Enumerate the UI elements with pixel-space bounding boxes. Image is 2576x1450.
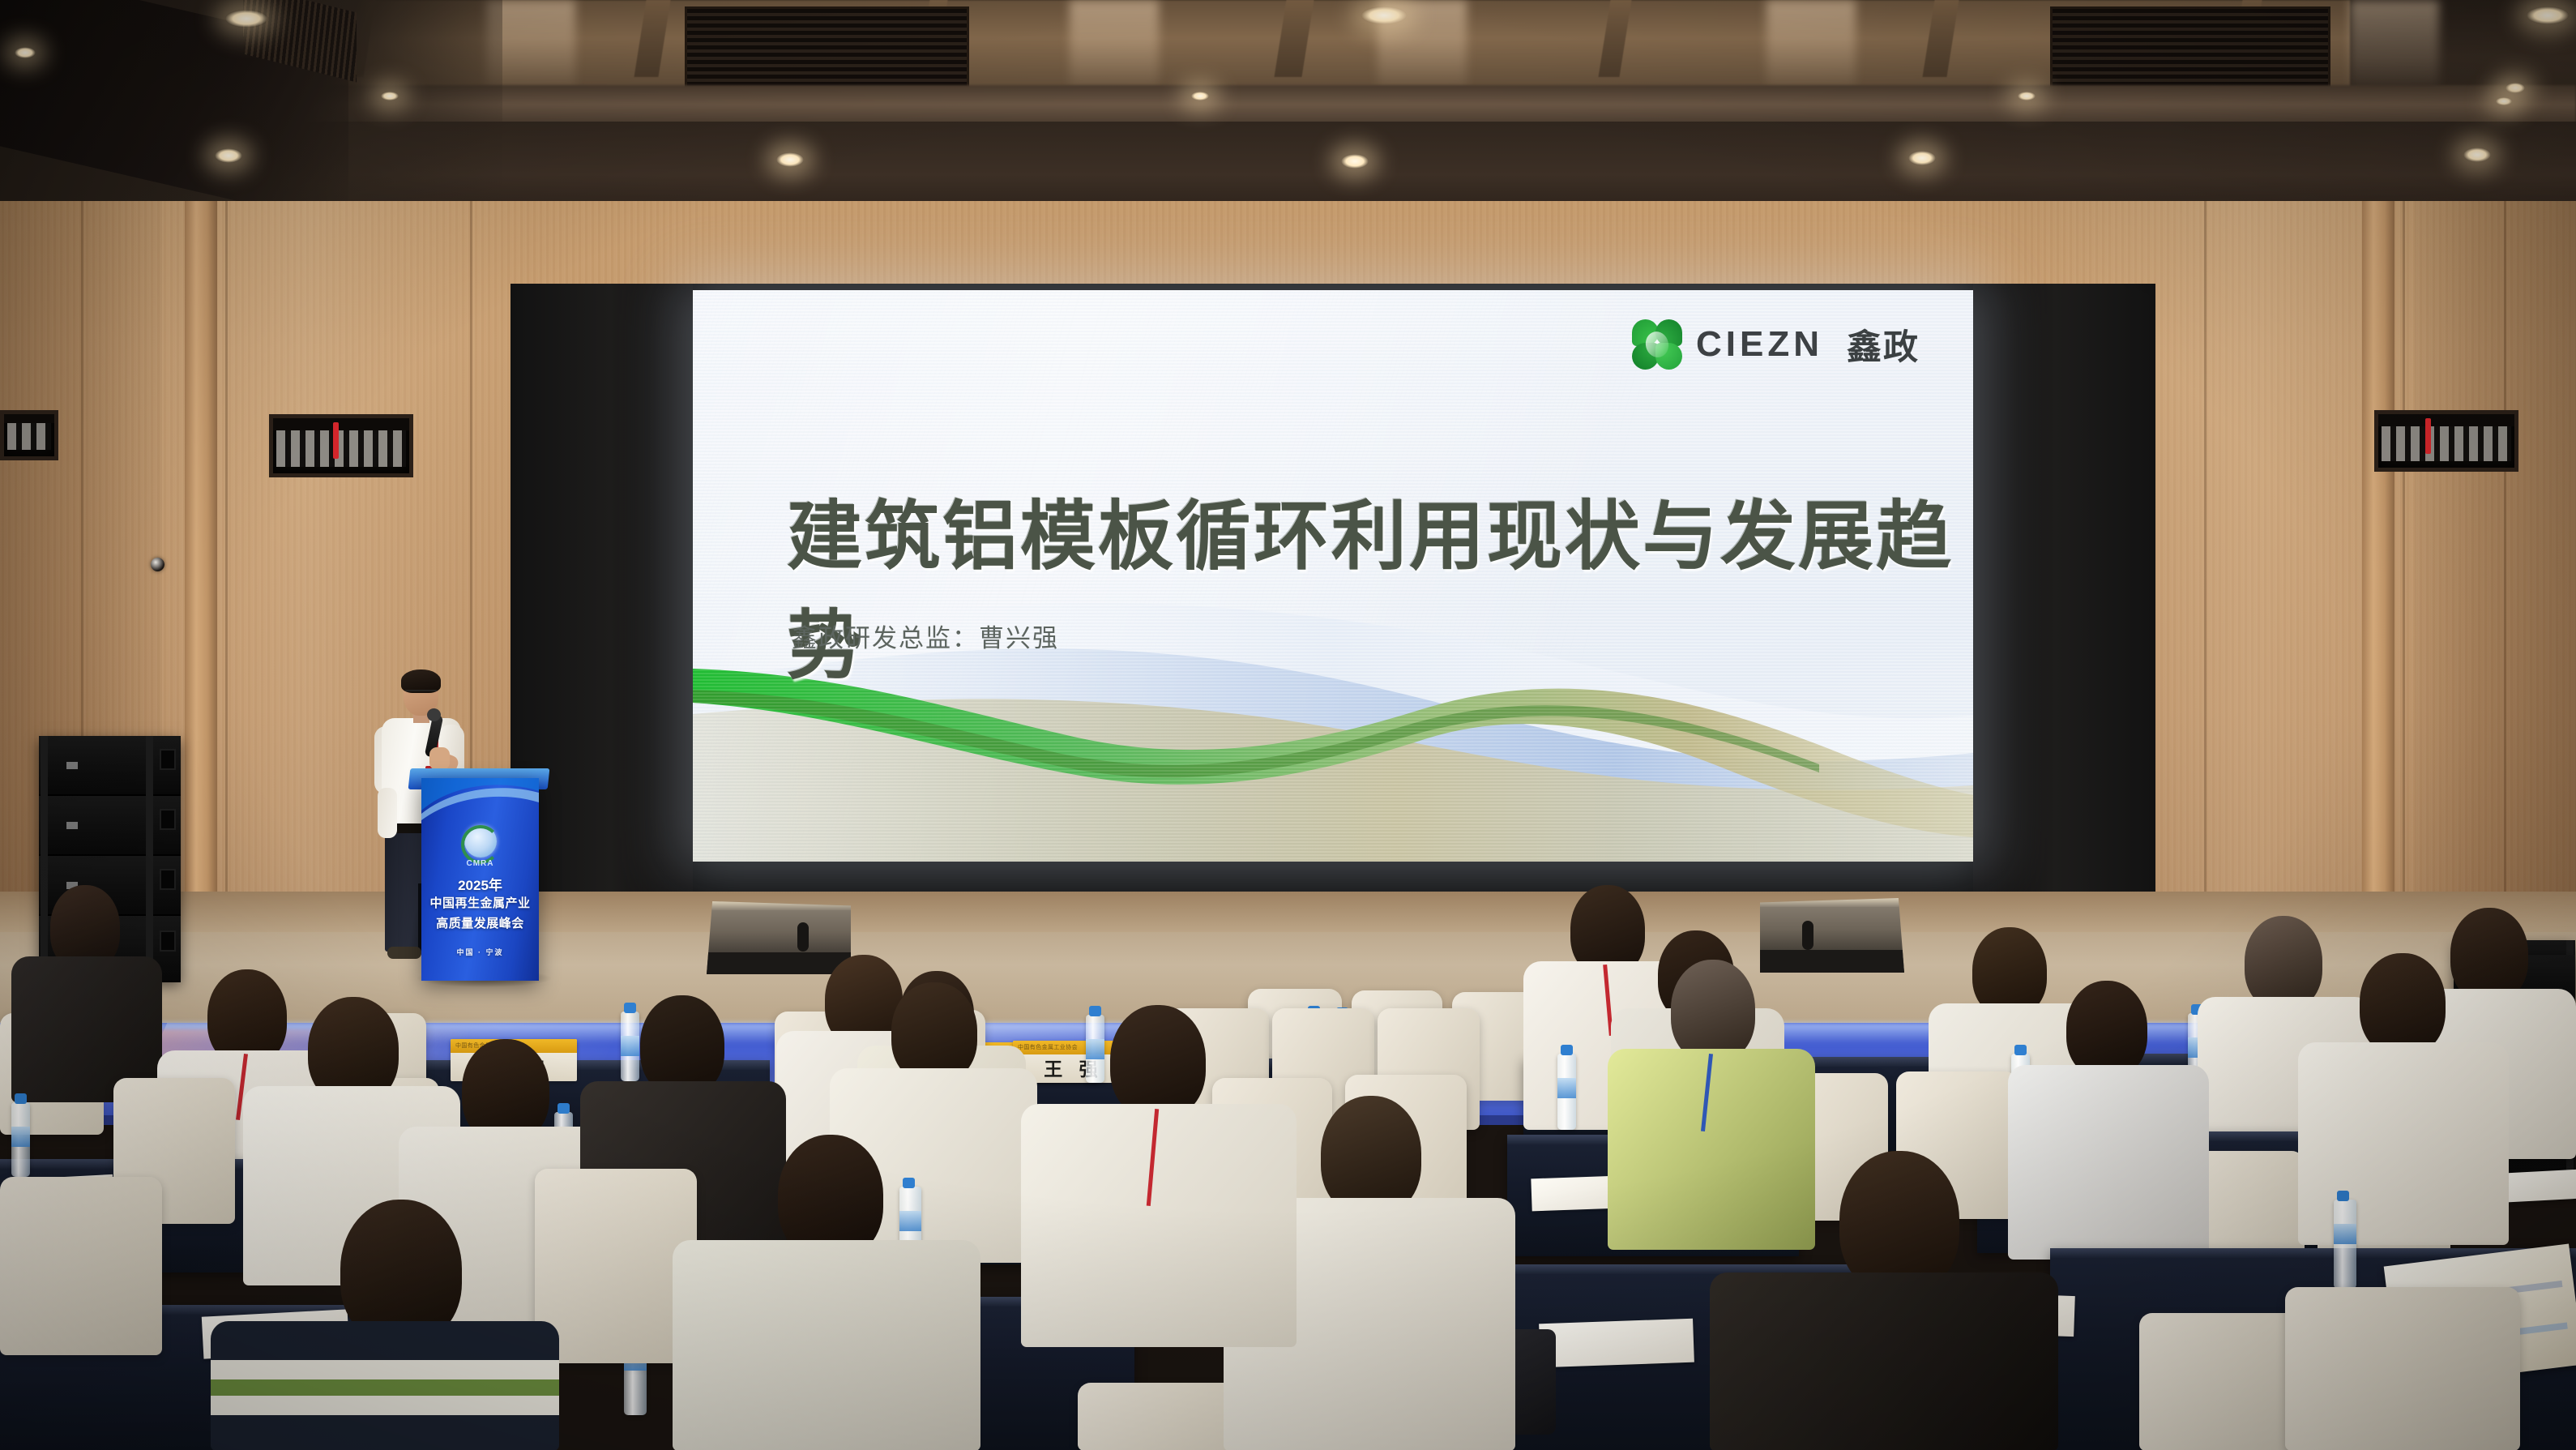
notepad bbox=[1539, 1319, 1694, 1368]
bottle-label bbox=[11, 1127, 30, 1147]
ceiling-downlight bbox=[2527, 6, 2569, 24]
bottled-water bbox=[1086, 1015, 1104, 1083]
ceiling-downlight bbox=[776, 152, 804, 167]
person-head bbox=[1110, 1005, 1206, 1119]
ceiling-downlight bbox=[1908, 151, 1936, 165]
line-array-port bbox=[160, 809, 176, 830]
person-torso bbox=[1021, 1104, 1297, 1347]
person-torso bbox=[2008, 1065, 2209, 1260]
bottle-label bbox=[1086, 1039, 1104, 1059]
person-torso-striped-polo bbox=[211, 1321, 559, 1450]
niche-red-marker bbox=[333, 422, 339, 459]
ceiling-downlight bbox=[381, 92, 399, 101]
bottle-label bbox=[2334, 1224, 2356, 1244]
slide-logo: CIEZN 鑫政 bbox=[1632, 319, 1920, 370]
ceiling-downlight bbox=[2506, 83, 2525, 93]
logo-wordmark-en: CIEZN bbox=[1696, 324, 1823, 365]
person-head bbox=[2066, 981, 2147, 1078]
person-torso bbox=[1710, 1272, 2058, 1450]
bottle-cap bbox=[15, 1093, 27, 1104]
line-array-label bbox=[66, 762, 78, 769]
niche-red-marker bbox=[2425, 418, 2431, 454]
stage-monitor-handle bbox=[1802, 921, 1813, 950]
ceiling-downlight bbox=[215, 148, 242, 163]
bottle-cap bbox=[557, 1103, 570, 1114]
slide-subtitle: 鑫政研发总监：曹兴强 bbox=[792, 618, 1059, 654]
line-array-port bbox=[160, 869, 176, 890]
ceiling-light-cone bbox=[2350, 0, 2439, 96]
niche-slats bbox=[7, 419, 51, 450]
wall-niche bbox=[2374, 410, 2518, 472]
speaker-hand bbox=[429, 747, 450, 770]
wall-speaker-dot bbox=[151, 558, 164, 571]
microphone-head bbox=[427, 708, 441, 721]
stage-monitor-handle bbox=[797, 922, 809, 952]
bottle-cap bbox=[1561, 1045, 1573, 1055]
line-array-rail bbox=[41, 736, 48, 981]
bottle-cap bbox=[1089, 1006, 1101, 1016]
person-head bbox=[1671, 960, 1755, 1062]
ceiling-downlight bbox=[2463, 148, 2491, 162]
screen-bezel-right bbox=[1973, 284, 2155, 900]
bottle-label bbox=[621, 1036, 639, 1056]
niche-shadow bbox=[2378, 414, 2514, 426]
podium-line-3: 高质量发展峰会 bbox=[421, 914, 539, 931]
speaker-left-arm bbox=[378, 788, 397, 838]
conference-hall-photo: CIEZN 鑫政 建筑铝模板循环利用现状与发展趋势 鑫政研发总监：曹兴强 bbox=[0, 0, 2576, 1450]
bottled-water bbox=[1557, 1054, 1576, 1130]
ceiling-light-cone bbox=[1766, 0, 1856, 96]
line-array-rail bbox=[146, 736, 153, 981]
bottle-label bbox=[899, 1211, 921, 1231]
ceiling-downlight bbox=[2018, 92, 2036, 101]
podium-swoosh-graphic bbox=[421, 778, 539, 827]
bottled-water bbox=[621, 1012, 639, 1081]
logo-wordmark-cn: 鑫政 bbox=[1847, 319, 1920, 370]
bottle-cap bbox=[903, 1178, 915, 1188]
ceiling-air-grille bbox=[685, 6, 969, 88]
name-card-org: 中国有色金属工业协会 bbox=[1018, 1043, 1078, 1051]
person-torso bbox=[2298, 1042, 2509, 1245]
niche-shadow bbox=[273, 418, 409, 430]
bottled-water bbox=[11, 1102, 30, 1177]
bottled-water bbox=[2334, 1200, 2356, 1289]
ceiling-downlight bbox=[1191, 92, 1209, 101]
line-array-port bbox=[160, 749, 176, 770]
person-torso bbox=[1608, 1049, 1815, 1250]
bottle-label bbox=[1557, 1078, 1576, 1098]
stage-monitor-base bbox=[707, 952, 851, 974]
chair bbox=[2285, 1287, 2520, 1450]
stage-monitor-right bbox=[1760, 898, 1904, 973]
stage-monitor-left bbox=[707, 901, 851, 974]
slide-title: 建筑铝模板循环利用现状与发展趋势 bbox=[787, 475, 1973, 694]
person-head bbox=[2360, 953, 2446, 1055]
podium-org-abbr: CMRA bbox=[421, 859, 539, 868]
ceiling-downlight bbox=[225, 10, 267, 28]
ceiling-downlight bbox=[15, 47, 36, 58]
niche-shadow bbox=[4, 414, 54, 423]
ceiling-downlight bbox=[1361, 6, 1407, 24]
wall-niche bbox=[0, 410, 58, 460]
ceiling-downlight bbox=[1341, 154, 1369, 169]
podium: CMRA 2025年 中国再生金属产业 高质量发展峰会 中国 · 宁波 bbox=[421, 778, 539, 981]
bottle-cap bbox=[624, 1003, 636, 1013]
wall-niche bbox=[269, 414, 413, 477]
chair bbox=[0, 1177, 162, 1355]
ciezn-pinwheel-logo-icon bbox=[1632, 319, 1682, 370]
ceiling bbox=[0, 0, 2576, 203]
podium-line-2: 中国再生金属产业 bbox=[421, 894, 539, 911]
cmra-logo-ring bbox=[461, 825, 500, 864]
speaker-glasses bbox=[405, 690, 437, 699]
stage-monitor-base bbox=[1760, 950, 1904, 973]
speaker-shoe bbox=[387, 947, 421, 959]
bottle-cap bbox=[2337, 1191, 2349, 1201]
person-torso bbox=[673, 1240, 980, 1450]
bottle-cap bbox=[2014, 1045, 2027, 1055]
line-array-label bbox=[66, 822, 78, 829]
ceiling-light-cone bbox=[1070, 0, 1159, 96]
person-head bbox=[2450, 908, 2528, 1002]
podium-location: 中国 · 宁波 bbox=[421, 947, 539, 957]
podium-year: 2025年 bbox=[421, 874, 539, 894]
ceiling-downlight bbox=[2496, 97, 2512, 105]
line-array-port bbox=[160, 930, 176, 952]
ceiling-air-grille bbox=[2050, 6, 2330, 88]
presentation-screen: CIEZN 鑫政 建筑铝模板循环利用现状与发展趋势 鑫政研发总监：曹兴强 bbox=[693, 290, 1973, 862]
person-head bbox=[2245, 916, 2322, 1010]
